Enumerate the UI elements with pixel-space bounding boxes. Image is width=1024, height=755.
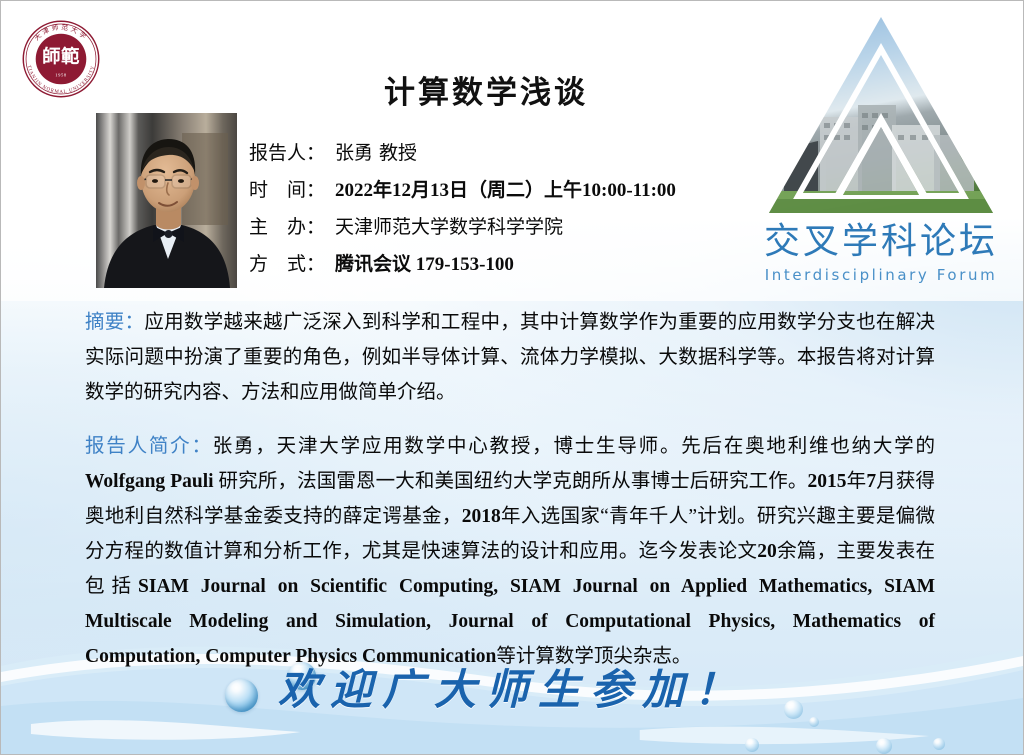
bio-text: 张勇，天津大学应用数学中心教授，博士生导师。先后在奥地利维也纳大学的 Wolfg… [85, 436, 935, 667]
forum-title-en: Interdisciplinary Forum [745, 266, 1017, 284]
info-label-method: 方 式： [249, 249, 335, 276]
info-value-method: 腾讯会议 179-153-100 [335, 249, 514, 276]
svg-text:1958: 1958 [55, 72, 67, 77]
abstract-label: 摘要： [85, 312, 144, 333]
abstract-paragraph: 摘要：应用数学越来越广泛深入到科学和工程中，其中计算数学作为重要的应用数学分支也… [85, 305, 935, 410]
info-row-speaker: 报告人： 张勇 教授 [249, 138, 769, 165]
talk-info-block: 报告人： 张勇 教授 时 间： 2022年12月13日（周二）上午10:00-1… [249, 138, 769, 286]
info-row-method: 方 式： 腾讯会议 179-153-100 [249, 249, 769, 276]
university-seal-logo: 天津师范大学 TIANJIN NORMAL UNIVERSITY 師範 1958 [15, 13, 107, 105]
talk-title: 计算数学浅谈 [246, 67, 726, 112]
info-row-time: 时 间： 2022年12月13日（周二）上午10:00-11:00 [249, 175, 769, 202]
info-row-organizer: 主 办： 天津师范大学数学科学学院 [249, 212, 769, 239]
speaker-bio-paragraph: 报告人简介：张勇，天津大学应用数学中心教授，博士生导师。先后在奥地利维也纳大学的… [85, 429, 935, 674]
svg-text:師範: 師範 [42, 46, 80, 68]
info-value-time: 2022年12月13日（周二）上午10:00-11:00 [335, 175, 676, 202]
info-value-speaker: 张勇 教授 [335, 138, 417, 165]
info-value-organizer: 天津师范大学数学科学学院 [335, 212, 563, 239]
info-label-speaker: 报告人： [249, 138, 335, 165]
bio-label: 报告人简介： [85, 436, 213, 457]
forum-logo: 交叉学科论坛 Interdisciplinary Forum [745, 9, 1017, 297]
seminar-poster: 天津师范大学 TIANJIN NORMAL UNIVERSITY 師範 1958 [0, 0, 1024, 755]
forum-triangle-emblem [762, 9, 1000, 221]
info-label-organizer: 主 办： [249, 212, 335, 239]
info-label-time: 时 间： [249, 175, 335, 202]
abstract-text: 应用数学越来越广泛深入到科学和工程中，其中计算数学作为重要的应用数学分支也在解决… [85, 312, 935, 403]
welcome-message: 欢迎广大师生参加！ [1, 656, 1023, 717]
speaker-portrait-photo [96, 113, 237, 288]
forum-title-cn: 交叉学科论坛 [745, 223, 1017, 261]
